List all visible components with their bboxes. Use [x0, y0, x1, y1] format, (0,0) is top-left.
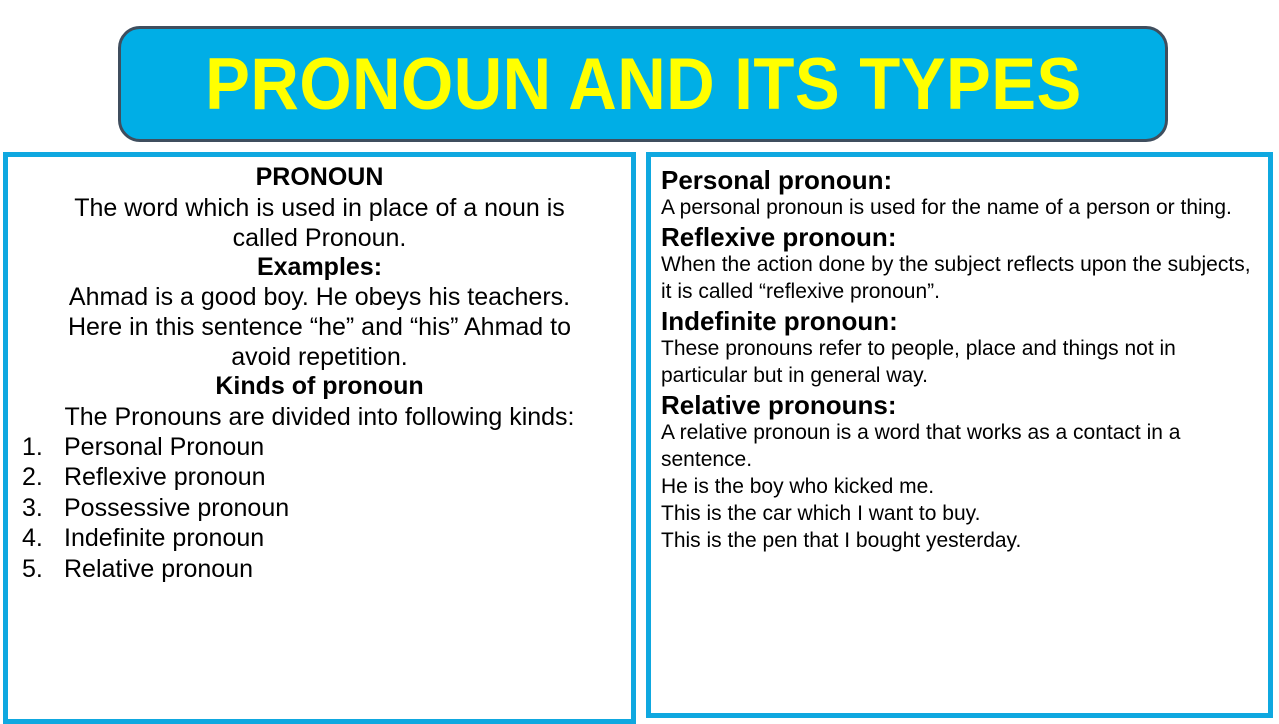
relative-pronoun-heading: Relative pronouns: [661, 390, 1258, 420]
indefinite-pronoun-heading: Indefinite pronoun: [661, 306, 1258, 336]
infographic-page: PRONOUN AND ITS TYPES PRONOUN The word w… [0, 0, 1279, 720]
list-item-label: Reflexive pronoun [64, 462, 623, 493]
right-panel: Personal pronoun: A personal pronoun is … [646, 152, 1273, 718]
relative-pronoun-example-1: He is the boy who kicked me. [661, 474, 1258, 501]
list-item-label: Indefinite pronoun [64, 523, 623, 554]
examples-heading: Examples: [16, 253, 623, 283]
list-item-number: 4. [16, 523, 64, 554]
personal-pronoun-heading: Personal pronoun: [661, 165, 1258, 195]
list-item-label: Possessive pronoun [64, 493, 623, 524]
example-line-2: Here in this sentence “he” and “his” Ahm… [16, 312, 623, 342]
relative-pronoun-example-3: This is the pen that I bought yesterday. [661, 528, 1258, 555]
title-banner: PRONOUN AND ITS TYPES [118, 26, 1168, 142]
kinds-list: 1. Personal Pronoun 2. Reflexive pronoun… [16, 432, 623, 585]
list-item-number: 3. [16, 493, 64, 524]
list-item-label: Relative pronoun [64, 554, 623, 585]
left-panel-heading: PRONOUN [16, 163, 623, 193]
indefinite-pronoun-body: These pronouns refer to people, place an… [661, 336, 1258, 390]
page-title: PRONOUN AND ITS TYPES [205, 48, 1082, 121]
reflexive-pronoun-body: When the action done by the subject refl… [661, 252, 1258, 306]
personal-pronoun-body: A personal pronoun is used for the name … [661, 195, 1258, 222]
list-item-number: 5. [16, 554, 64, 585]
list-item: 3. Possessive pronoun [16, 493, 623, 524]
definition-line-2: called Pronoun. [16, 223, 623, 253]
kinds-intro: The Pronouns are divided into following … [16, 402, 623, 432]
list-item-number: 1. [16, 432, 64, 463]
example-line-3: avoid repetition. [16, 342, 623, 372]
list-item: 4. Indefinite pronoun [16, 523, 623, 554]
kinds-heading: Kinds of pronoun [16, 372, 623, 402]
relative-pronoun-example-2: This is the car which I want to buy. [661, 501, 1258, 528]
example-line-1: Ahmad is a good boy. He obeys his teache… [16, 282, 623, 312]
list-item: 2. Reflexive pronoun [16, 462, 623, 493]
list-item-number: 2. [16, 462, 64, 493]
relative-pronoun-body: A relative pronoun is a word that works … [661, 420, 1258, 474]
list-item: 1. Personal Pronoun [16, 432, 623, 463]
list-item-label: Personal Pronoun [64, 432, 623, 463]
list-item: 5. Relative pronoun [16, 554, 623, 585]
left-panel: PRONOUN The word which is used in place … [3, 152, 636, 724]
definition-line-1: The word which is used in place of a nou… [16, 193, 623, 223]
reflexive-pronoun-heading: Reflexive pronoun: [661, 222, 1258, 252]
